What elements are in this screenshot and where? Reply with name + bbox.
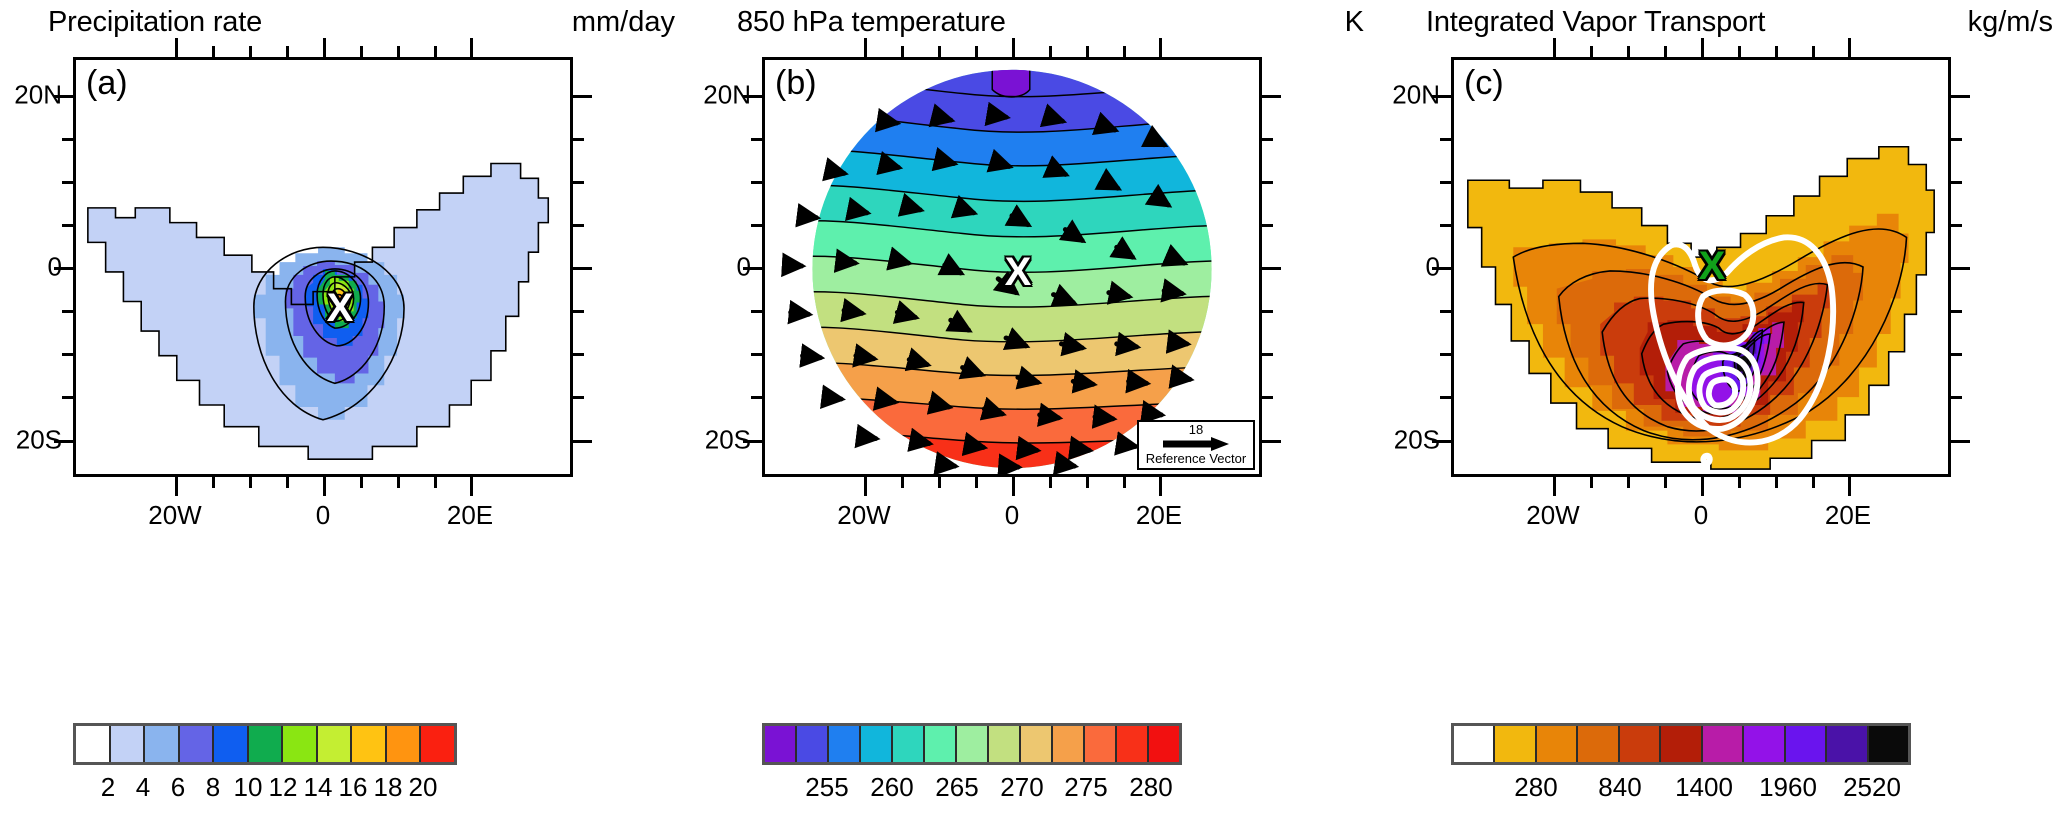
panel-c-cbar-label: 840: [1575, 772, 1665, 803]
colorbar-cell: [1149, 726, 1179, 762]
colorbar-cell: [1117, 726, 1149, 762]
panel-a-tick: [62, 138, 73, 141]
colorbar-cell: [797, 726, 829, 762]
panel-a-tick: [573, 267, 592, 270]
panel-a-tick: [360, 46, 363, 57]
panel-a-tick: [62, 396, 73, 399]
panel-c-colorbar: [1451, 723, 1911, 765]
colorbar-cell: [1661, 726, 1702, 762]
panel-b-tick: [1086, 46, 1089, 57]
panel-c-tick: [1701, 38, 1704, 57]
panel-c-tick: [1432, 95, 1451, 98]
panel-b-tick: [751, 181, 762, 184]
panel-b-tick: [1012, 38, 1015, 57]
panel-a-tick: [470, 477, 473, 496]
panel-b-tick: [1262, 310, 1273, 313]
panel-a-tick: [323, 477, 326, 496]
colorbar-cell: [1869, 726, 1908, 762]
colorbar-cell: [1620, 726, 1661, 762]
panel-b-tick: [751, 396, 762, 399]
panel-b-xtick-20w: 20W: [819, 500, 909, 531]
colorbar-cell: [1454, 726, 1495, 762]
panel-a-xtick-20w: 20W: [130, 500, 220, 531]
colorbar-cell: [387, 726, 422, 762]
panel-a-ytick-0: 0: [0, 252, 62, 283]
panel-a-tick: [397, 46, 400, 57]
panel-b-xtick-0: 0: [967, 500, 1057, 531]
panel-c-tick: [1951, 396, 1962, 399]
panel-b-ytick-20s: 20S: [689, 425, 751, 456]
panel-c-tick: [1701, 477, 1704, 496]
panel-c-cbar-label: 2520: [1827, 772, 1917, 803]
colorbar-cell: [111, 726, 146, 762]
panel-b-tick: [743, 95, 762, 98]
colorbar-cell: [421, 726, 454, 762]
panel-c-tick: [1440, 181, 1451, 184]
panel-b-tick: [975, 477, 978, 488]
panel-b-center-marker: X: [1005, 252, 1032, 292]
panel-c-tick: [1951, 267, 1970, 270]
panel-b-tick: [751, 224, 762, 227]
panel-a-letter: (a): [86, 64, 128, 103]
panel-c-tick: [1553, 477, 1556, 496]
panel-c-units: kg/m/s: [1968, 6, 2053, 39]
panel-c-tick: [1738, 46, 1741, 57]
panel-c-tick: [1951, 138, 1962, 141]
panel-a-tick: [54, 95, 73, 98]
panel-b-tick: [1262, 267, 1281, 270]
panel-a-tick: [212, 477, 215, 488]
panel-b-tick: [1159, 477, 1162, 496]
panel-c-tick: [1848, 477, 1851, 496]
panel-b-tick: [1159, 38, 1162, 57]
colorbar-cell: [1703, 726, 1744, 762]
colorbar-cell: [989, 726, 1021, 762]
panel-c-tick: [1738, 477, 1741, 488]
reference-vector-box: 18 Reference Vector: [1137, 420, 1255, 470]
panel-c-tick: [1775, 46, 1778, 57]
panel-a-tick: [434, 477, 437, 488]
panel-b-tick: [751, 310, 762, 313]
panel-a-tick: [249, 477, 252, 488]
panel-c-tick: [1432, 440, 1451, 443]
panel-c-tick: [1951, 224, 1962, 227]
panel-precipitation-rate: Precipitation rate mm/day 20N 0 20S 20W …: [0, 0, 689, 815]
panel-integrated-vapor-transport: Integrated Vapor Transport kg/m/s 20N 0 …: [1378, 0, 2067, 815]
panel-a-colorbar: [73, 723, 457, 765]
colorbar-cell: [283, 726, 318, 762]
colorbar-cell: [925, 726, 957, 762]
panel-b-tick: [1262, 138, 1273, 141]
panel-b-plot-area: (b): [762, 57, 1262, 477]
panel-b-tick: [751, 138, 762, 141]
panel-a-plot-area: (a): [73, 57, 573, 477]
panel-a-tick: [54, 440, 73, 443]
panel-c-ytick-20s: 20S: [1378, 425, 1440, 456]
panel-c-tick: [1590, 477, 1593, 488]
panel-a-contour-field: [76, 60, 570, 474]
panel-a-ytick-20s: 20S: [0, 425, 62, 456]
panel-b-tick: [1262, 440, 1281, 443]
panel-c-tick: [1812, 46, 1815, 57]
colorbar-cell: [1495, 726, 1536, 762]
panel-a-tick: [360, 477, 363, 488]
panel-b-marker-glyph: X: [1005, 252, 1032, 292]
panel-c-xtick-0: 0: [1656, 500, 1746, 531]
colorbar-cell: [765, 726, 797, 762]
panel-b-ytick-0: 0: [689, 252, 751, 283]
panel-b-letter: (b): [775, 64, 817, 103]
panel-b-cbar-label: 280: [1106, 772, 1196, 803]
colorbar-cell: [180, 726, 215, 762]
reference-vector-label: Reference Vector: [1139, 452, 1253, 466]
panel-b-tick: [1262, 396, 1273, 399]
panel-a-tick: [62, 353, 73, 356]
panel-a-tick: [175, 477, 178, 496]
panel-b-tick: [938, 46, 941, 57]
panel-b-ytick-20n: 20N: [689, 80, 751, 111]
panel-a-tick: [573, 138, 584, 141]
panel-a-tick: [323, 38, 326, 57]
panel-c-ytick-20n: 20N: [1378, 80, 1440, 111]
panel-c-tick: [1432, 267, 1451, 270]
panel-b-tick: [864, 477, 867, 496]
panel-b-tick: [743, 267, 762, 270]
panel-a-tick: [470, 38, 473, 57]
panel-c-title: Integrated Vapor Transport: [1426, 6, 1765, 39]
panel-a-tick: [573, 95, 592, 98]
panel-b-colorbar: [762, 723, 1182, 765]
panel-b-tick: [1086, 477, 1089, 488]
panel-b-tick: [1262, 95, 1281, 98]
colorbar-cell: [1827, 726, 1868, 762]
panel-c-tick: [1440, 310, 1451, 313]
panel-a-tick: [573, 224, 584, 227]
reference-vector-value: 18: [1139, 423, 1253, 437]
panel-c-tick: [1664, 46, 1667, 57]
panel-b-title: 850 hPa temperature: [737, 6, 1006, 39]
reference-vector-arrow: [1159, 436, 1233, 452]
panel-b-xtick-20e: 20E: [1114, 500, 1204, 531]
colorbar-cell: [1786, 726, 1827, 762]
panel-a-cbar-label: 20: [378, 772, 468, 803]
panel-a-tick: [212, 46, 215, 57]
panel-b-tick: [1262, 181, 1273, 184]
panel-a-ytick-20n: 20N: [0, 80, 62, 111]
panel-c-plot-area: (c): [1451, 57, 1951, 477]
panel-c-tick: [1440, 224, 1451, 227]
panel-a-tick: [286, 46, 289, 57]
panel-a-center-marker: X: [327, 288, 354, 328]
panel-b-tick: [1012, 477, 1015, 496]
panel-b-tick: [743, 440, 762, 443]
colorbar-cell: [957, 726, 989, 762]
colorbar-cell: [893, 726, 925, 762]
panel-c-cbar-label: 280: [1491, 772, 1581, 803]
panel-a-xtick-20e: 20E: [425, 500, 515, 531]
panel-b-tick: [1262, 353, 1273, 356]
panel-c-xtick-20w: 20W: [1508, 500, 1598, 531]
panel-b-tick: [1049, 477, 1052, 488]
colorbar-cell: [1578, 726, 1619, 762]
panel-a-tick: [397, 477, 400, 488]
colorbar-cell: [76, 726, 111, 762]
panel-c-tick: [1627, 477, 1630, 488]
panel-a-tick: [62, 181, 73, 184]
colorbar-cell: [1744, 726, 1785, 762]
panel-a-tick: [249, 46, 252, 57]
panel-c-tick: [1951, 353, 1962, 356]
colorbar-cell: [1021, 726, 1053, 762]
panel-b-tick: [975, 46, 978, 57]
panel-850hpa-temperature: 850 hPa temperature K 20N 0 20S 20W 0 20…: [689, 0, 1378, 815]
panel-a-tick: [573, 353, 584, 356]
panel-c-tick: [1553, 38, 1556, 57]
colorbar-cell: [249, 726, 284, 762]
colorbar-cell: [214, 726, 249, 762]
panel-c-cbar-label: 1400: [1659, 772, 1749, 803]
panel-b-units: K: [1345, 6, 1364, 39]
panel-b-tick: [1123, 477, 1126, 488]
panel-b-tick: [1262, 224, 1273, 227]
panel-a-tick: [175, 38, 178, 57]
panel-a-marker-glyph: X: [327, 288, 354, 328]
panel-a-tick: [62, 310, 73, 313]
panel-a-xtick-0: 0: [278, 500, 368, 531]
panel-b-tick: [901, 46, 904, 57]
colorbar-cell: [145, 726, 180, 762]
panel-c-tick: [1951, 181, 1962, 184]
panel-a-tick: [286, 477, 289, 488]
panel-a-tick: [573, 440, 592, 443]
panel-c-cbar-label: 1960: [1743, 772, 1833, 803]
panel-a-tick: [54, 267, 73, 270]
panel-b-tick: [751, 353, 762, 356]
panel-c-tick: [1775, 477, 1778, 488]
colorbar-cell: [829, 726, 861, 762]
panel-c-tick: [1848, 38, 1851, 57]
panel-a-tick: [434, 46, 437, 57]
panel-a-units: mm/day: [572, 6, 675, 39]
panel-c-tick: [1440, 396, 1451, 399]
panel-b-tick: [901, 477, 904, 488]
panel-c-marker-glyph: X: [1699, 246, 1726, 286]
panel-c-center-marker: X: [1699, 246, 1726, 286]
panel-a-tick: [62, 224, 73, 227]
panel-a-tick: [573, 181, 584, 184]
figure-root: Precipitation rate mm/day 20N 0 20S 20W …: [0, 0, 2067, 815]
panel-c-tick: [1951, 440, 1970, 443]
colorbar-cell: [352, 726, 387, 762]
panel-c-tick: [1812, 477, 1815, 488]
panel-c-tick: [1664, 477, 1667, 488]
panel-c-ytick-0: 0: [1378, 252, 1440, 283]
panel-c-tick: [1627, 46, 1630, 57]
colorbar-cell: [861, 726, 893, 762]
panel-c-xtick-20e: 20E: [1803, 500, 1893, 531]
panel-a-title: Precipitation rate: [48, 6, 262, 39]
colorbar-cell: [1537, 726, 1578, 762]
panel-c-tick: [1951, 310, 1962, 313]
colorbar-cell: [318, 726, 353, 762]
panel-c-tick: [1951, 95, 1970, 98]
panel-b-tick: [1049, 46, 1052, 57]
colorbar-cell: [1053, 726, 1085, 762]
panel-b-tick: [1123, 46, 1126, 57]
panel-a-tick: [573, 396, 584, 399]
panel-c-tick: [1440, 353, 1451, 356]
colorbar-cell: [1085, 726, 1117, 762]
panel-c-tick: [1590, 46, 1593, 57]
panel-c-letter: (c): [1464, 64, 1504, 103]
panel-b-tick: [938, 477, 941, 488]
panel-b-tick: [864, 38, 867, 57]
panel-a-tick: [573, 310, 584, 313]
panel-c-tick: [1440, 138, 1451, 141]
